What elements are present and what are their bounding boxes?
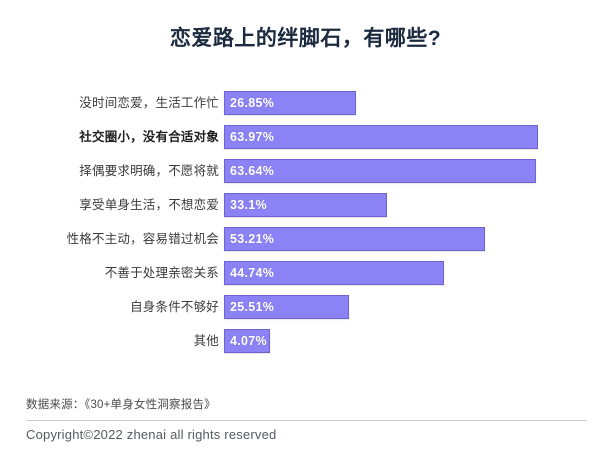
bar-fill[interactable]: 44.74% [224,261,444,285]
bar-category-label: 择偶要求明确，不愿将就 [0,159,224,183]
bar-category-label: 享受单身生活，不想恋爱 [0,193,224,217]
bar-category-label: 自身条件不够好 [0,295,224,319]
bar-fill[interactable]: 25.51% [224,295,349,319]
bar-value-label: 63.97% [230,130,274,144]
bar-track: 26.85% [224,91,611,115]
bar-track: 33.1% [224,193,611,217]
bar-value-label: 53.21% [230,232,274,246]
chart-card: 恋爱路上的绊脚石，有哪些? 没时间恋爱，生活工作忙26.85%社交圈小，没有合适… [0,0,611,462]
bar-chart-plot-area: 没时间恋爱，生活工作忙26.85%社交圈小，没有合适对象63.97%择偶要求明确… [0,86,611,358]
bar-track: 44.74% [224,261,611,285]
bar-value-label: 4.07% [230,334,267,348]
bar-category-label: 其他 [0,329,224,353]
bar-value-label: 44.74% [230,266,274,280]
footer-divider [26,420,587,421]
bar-row: 社交圈小，没有合适对象63.97% [0,120,611,154]
bar-category-label: 性格不主动，容易错过机会 [0,227,224,251]
bar-track: 4.07% [224,329,611,353]
bar-fill[interactable]: 53.21% [224,227,485,251]
bar-track: 25.51% [224,295,611,319]
bar-category-label: 社交圈小，没有合适对象 [0,125,224,149]
bar-row: 性格不主动，容易错过机会53.21% [0,222,611,256]
bar-row: 享受单身生活，不想恋爱33.1% [0,188,611,222]
bar-category-label: 不善于处理亲密关系 [0,261,224,285]
bar-value-label: 26.85% [230,96,274,110]
bar-value-label: 33.1% [230,198,267,212]
bar-value-label: 63.64% [230,164,274,178]
bar-track: 63.64% [224,159,611,183]
bar-category-label: 没时间恋爱，生活工作忙 [0,91,224,115]
bar-row: 不善于处理亲密关系44.74% [0,256,611,290]
bar-value-label: 25.51% [230,300,274,314]
chart-title: 恋爱路上的绊脚石，有哪些? [0,24,611,54]
bar-fill[interactable]: 33.1% [224,193,387,217]
bar-row: 没时间恋爱，生活工作忙26.85% [0,86,611,120]
bar-fill[interactable]: 4.07% [224,329,270,353]
bar-row: 自身条件不够好25.51% [0,290,611,324]
copyright-note: Copyright©2022 zhenai all rights reserve… [26,427,276,442]
bar-row: 择偶要求明确，不愿将就63.64% [0,154,611,188]
bar-fill[interactable]: 63.97% [224,125,538,149]
bar-row: 其他4.07% [0,324,611,358]
bar-fill[interactable]: 26.85% [224,91,356,115]
bar-track: 63.97% [224,125,611,149]
data-source-note: 数据来源：《30+单身女性洞察报告》 [26,396,216,412]
bar-fill[interactable]: 63.64% [224,159,536,183]
bar-track: 53.21% [224,227,611,251]
